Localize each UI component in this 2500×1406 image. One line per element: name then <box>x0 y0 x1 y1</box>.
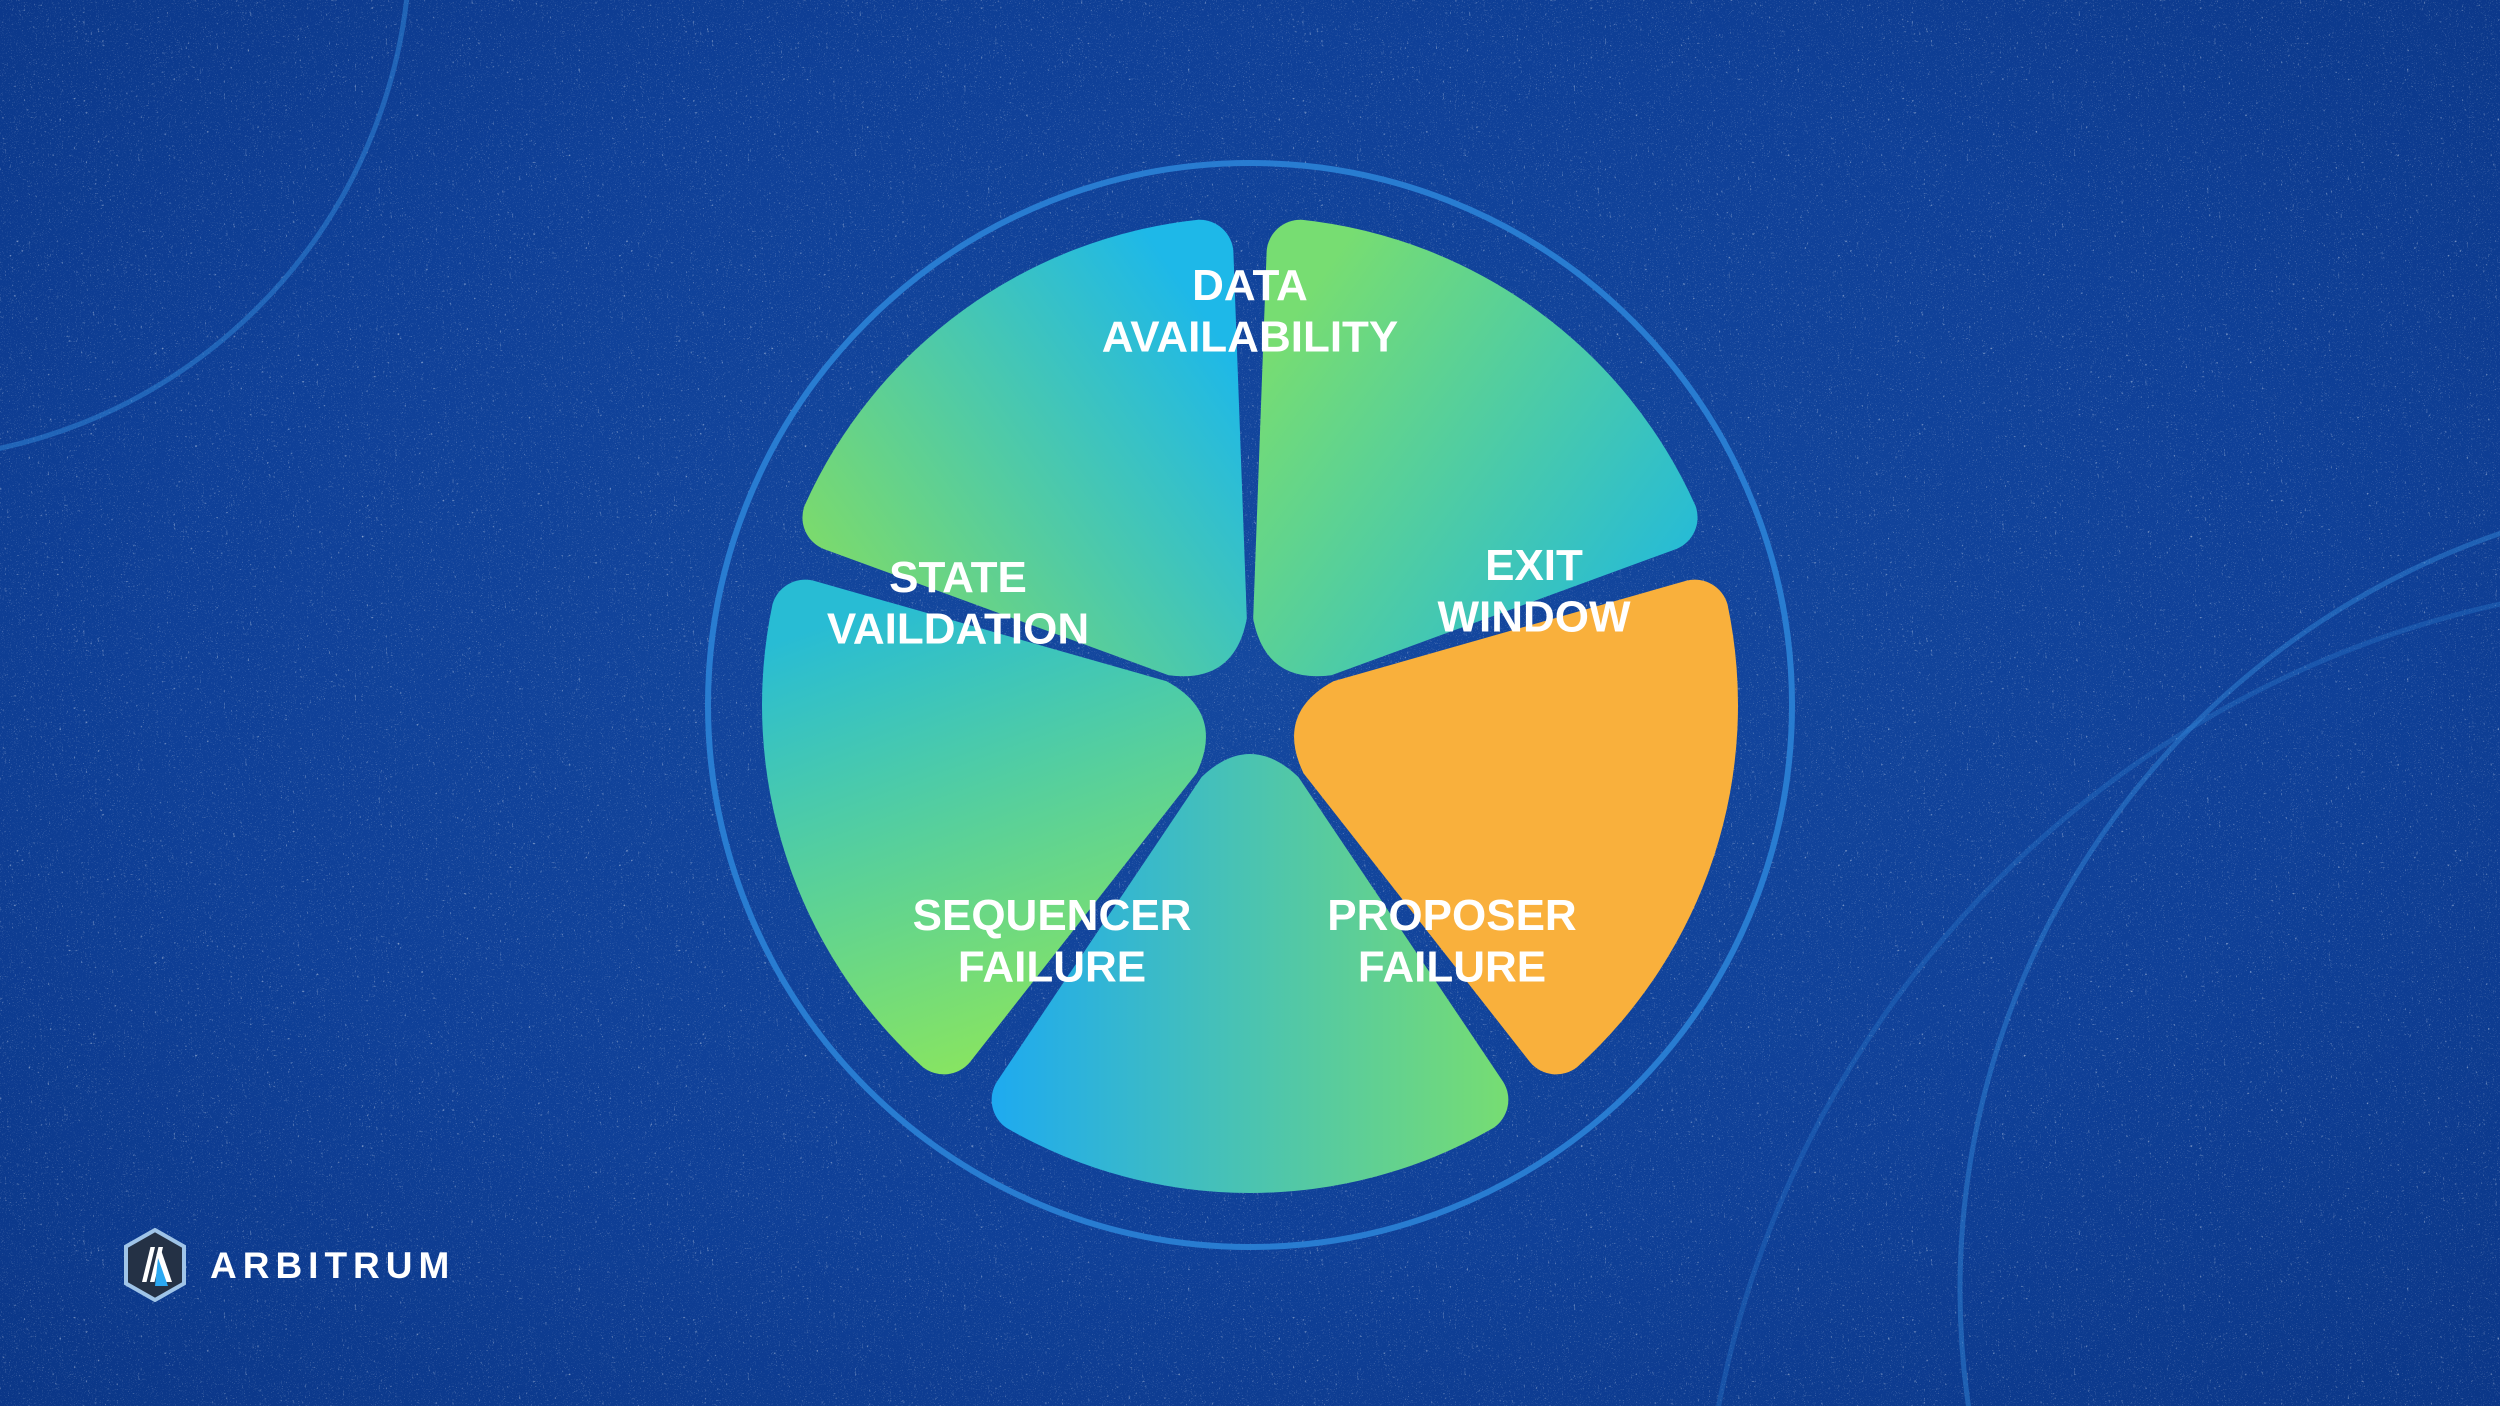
arbitrum-logo-lockup[interactable]: ARBITRUM <box>122 1228 455 1302</box>
slice-label-line: SEQUENCER <box>913 891 1192 940</box>
pie-slices <box>762 220 1738 1193</box>
slice-label-line: DATA <box>1192 261 1308 310</box>
brand-wordmark: ARBITRUM <box>210 1247 455 1284</box>
slice-label-line: VAILDATION <box>827 604 1089 653</box>
slice-label-line: WINDOW <box>1437 592 1631 641</box>
slice-label-line: FAILURE <box>958 942 1146 991</box>
slice-label-line: EXIT <box>1485 541 1583 590</box>
arbitrum-hexagon-logo-icon <box>122 1228 188 1302</box>
slice-label-line: FAILURE <box>1358 942 1546 991</box>
slice-label-line: STATE <box>889 553 1027 602</box>
slice-label-line: AVAILABILITY <box>1102 312 1399 361</box>
poster-canvas: DATAAVAILABILITYEXITWINDOWPROPOSERFAILUR… <box>0 0 2500 1406</box>
slice-label-line: PROPOSER <box>1327 891 1576 940</box>
pie-chart: DATAAVAILABILITYEXITWINDOWPROPOSERFAILUR… <box>0 0 2500 1406</box>
